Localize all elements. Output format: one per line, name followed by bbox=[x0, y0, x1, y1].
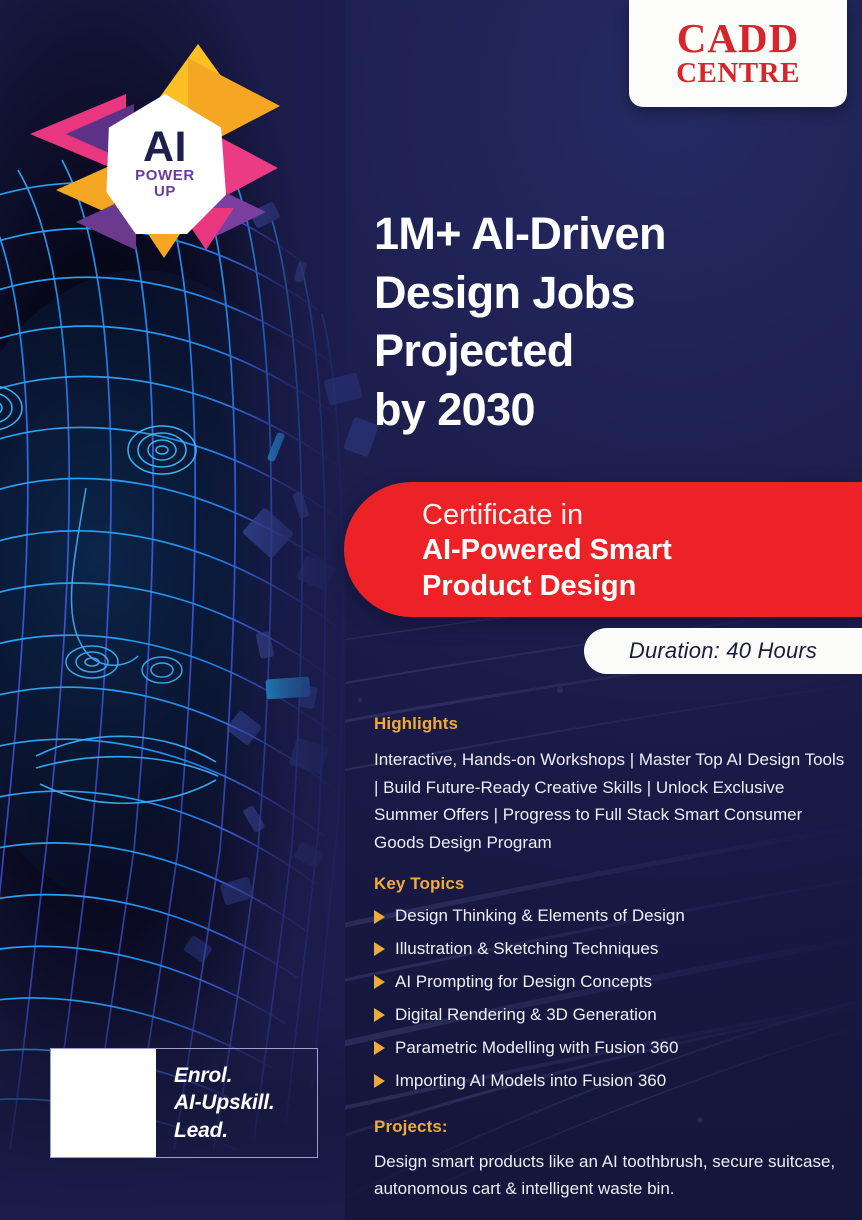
highlights-heading: Highlights bbox=[374, 714, 852, 734]
key-topic-label: Illustration & Sketching Techniques bbox=[395, 935, 658, 964]
list-item: Importing AI Models into Fusion 360 bbox=[374, 1065, 852, 1098]
list-item: Digital Rendering & 3D Generation bbox=[374, 999, 852, 1032]
cta-line-1: Enrol. bbox=[174, 1062, 317, 1089]
list-item: AI Prompting for Design Concepts bbox=[374, 966, 852, 999]
content-column: Highlights Interactive, Hands-on Worksho… bbox=[374, 714, 852, 1202]
badge-ai-text: AI bbox=[143, 128, 187, 168]
enrol-cta-box: Enrol. AI-Upskill. Lead. bbox=[50, 1048, 318, 1158]
key-topics-heading: Key Topics bbox=[374, 874, 852, 894]
key-topic-label: AI Prompting for Design Concepts bbox=[395, 968, 652, 997]
triangle-right-icon bbox=[374, 1074, 385, 1088]
headline-line-1: 1M+ AI-Driven bbox=[374, 205, 844, 264]
projects-body: Design smart products like an AI toothbr… bbox=[374, 1149, 852, 1202]
badge-up-text: UP bbox=[154, 184, 176, 200]
poster-root: AI POWER UP CADD CENTRE 1M+ AI-Driven De… bbox=[0, 0, 862, 1220]
key-topic-label: Digital Rendering & 3D Generation bbox=[395, 1001, 657, 1030]
triangle-right-icon bbox=[374, 942, 385, 956]
qr-code-placeholder bbox=[51, 1049, 156, 1157]
duration-label: Duration: 40 Hours bbox=[629, 638, 817, 664]
key-topic-label: Design Thinking & Elements of Design bbox=[395, 902, 685, 931]
headline-line-4: by 2030 bbox=[374, 381, 844, 440]
headline-line-3: Projected bbox=[374, 322, 844, 381]
certificate-prefix: Certificate in bbox=[422, 498, 862, 533]
list-item: Parametric Modelling with Fusion 360 bbox=[374, 1032, 852, 1065]
certificate-title-line-2: Product Design bbox=[422, 569, 862, 604]
list-item: Illustration & Sketching Techniques bbox=[374, 933, 852, 966]
triangle-right-icon bbox=[374, 1008, 385, 1022]
certificate-banner: Certificate in AI-Powered Smart Product … bbox=[344, 482, 862, 617]
cta-text-block: Enrol. AI-Upskill. Lead. bbox=[156, 1049, 317, 1157]
triangle-right-icon bbox=[374, 975, 385, 989]
highlights-body: Interactive, Hands-on Workshops | Master… bbox=[374, 746, 852, 856]
badge-power-text: POWER bbox=[135, 168, 195, 184]
triangle-right-icon bbox=[374, 1041, 385, 1055]
certificate-title-line-1: AI-Powered Smart bbox=[422, 533, 862, 568]
duration-badge: Duration: 40 Hours bbox=[584, 628, 862, 674]
list-item: Design Thinking & Elements of Design bbox=[374, 900, 852, 933]
triangle-right-icon bbox=[374, 910, 385, 924]
logo-centre-text: CENTRE bbox=[676, 59, 800, 88]
cta-line-2: AI-Upskill. bbox=[174, 1089, 317, 1116]
cta-line-3: Lead. bbox=[174, 1117, 317, 1144]
projects-heading: Projects: bbox=[374, 1117, 852, 1137]
key-topic-label: Importing AI Models into Fusion 360 bbox=[395, 1067, 666, 1096]
key-topics-list: Design Thinking & Elements of Design Ill… bbox=[374, 900, 852, 1097]
page-title: 1M+ AI-Driven Design Jobs Projected by 2… bbox=[374, 205, 844, 439]
key-topic-label: Parametric Modelling with Fusion 360 bbox=[395, 1034, 678, 1063]
ai-power-up-badge: AI POWER UP bbox=[28, 42, 286, 262]
cadd-centre-logo: CADD CENTRE bbox=[629, 0, 847, 107]
logo-cadd-text: CADD bbox=[677, 19, 799, 58]
headline-line-2: Design Jobs bbox=[374, 264, 844, 323]
